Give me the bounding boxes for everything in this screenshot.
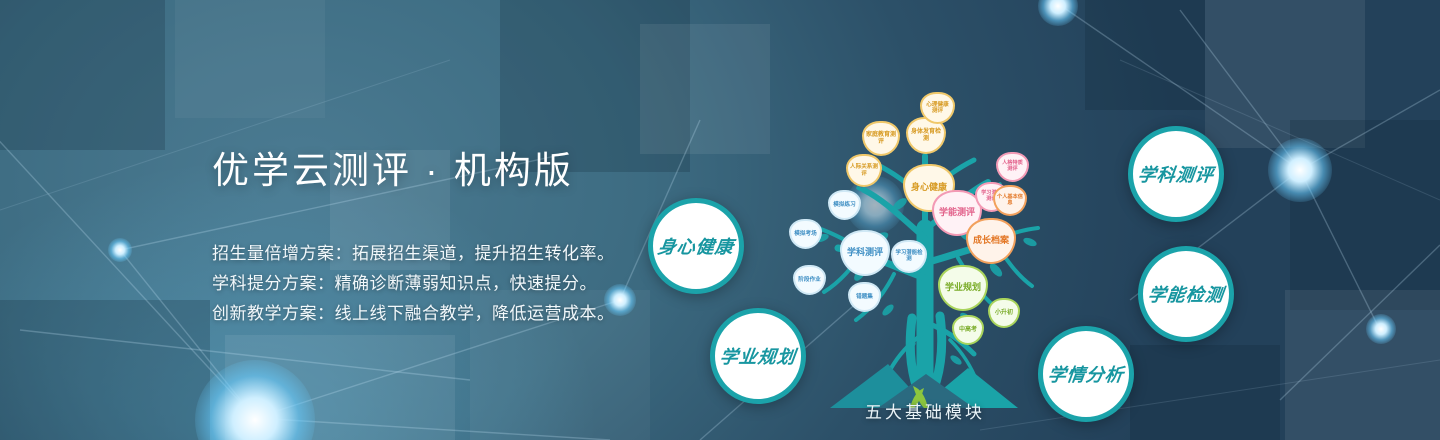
badge-academic-planning[interactable]: 学业规划 [710,308,806,404]
badge-subject-assessment[interactable]: 学科测评 [1128,126,1224,222]
tree-node-label: 小升初 [995,310,1013,316]
tree-node-label: 阶段作业 [798,277,820,283]
badge-label: 身心健康 [656,233,735,259]
copy-block: 优学云测评 · 机构版 招生量倍增方案：拓展招生渠道，提升招生转化率。 学科提分… [212,152,642,329]
bullet-item-3: 创新教学方案：线上线下融合教学，降低运营成本。 [212,299,642,329]
badge-physical-mental-health[interactable]: 身心健康 [648,198,744,294]
tree-node-label: 模拟考场 [794,231,816,237]
tree-node-label: 学能测评 [939,208,975,218]
tree-node-label: 身体发育检测 [910,129,942,142]
hero-banner: 优学云测评 · 机构版 招生量倍增方案：拓展招生渠道，提升招生转化率。 学科提分… [0,0,1440,440]
badge-learning-ability-test[interactable]: 学能检测 [1138,246,1234,342]
tree-node-label: 心理健康测评 [924,102,951,114]
bullet-item-1: 招生量倍增方案：拓展招生渠道，提升招生转化率。 [212,239,642,269]
tree-node-label: 学科测评 [847,248,883,258]
tree-node-label: 人际关系测评 [850,164,878,176]
badge-label: 学情分析 [1046,361,1125,387]
page-title: 优学云测评 · 机构版 [212,152,642,189]
tree-node-label: 学习潜能检测 [895,251,923,263]
tree-node-label: 身心健康 [911,183,947,193]
tree-caption: 五大基础模块 [760,398,1090,423]
tree-node-label: 人格特质测评 [1000,161,1025,172]
badge-learning-analysis[interactable]: 学情分析 [1038,326,1134,422]
badge-label: 学能检测 [1146,281,1225,307]
tree-node-label: 成长档案 [973,236,1009,246]
tree-node-label: 模拟练习 [833,202,855,208]
tree-node-label: 家庭教育测评 [866,132,896,145]
bullet-item-2: 学科提分方案：精确诊断薄弱知识点，快速提分。 [212,269,642,299]
bullet-list: 招生量倍增方案：拓展招生渠道，提升招生转化率。 学科提分方案：精确诊断薄弱知识点… [212,239,642,329]
badge-label: 学科测评 [1136,161,1215,187]
tree-node-label: 错题集 [856,294,873,300]
tree-node-label: 个人基本信息 [997,195,1023,206]
tree-node-label: 中高考 [959,327,977,333]
tree-node-label: 学业规划 [945,283,981,293]
badge-label: 学业规划 [718,343,797,369]
